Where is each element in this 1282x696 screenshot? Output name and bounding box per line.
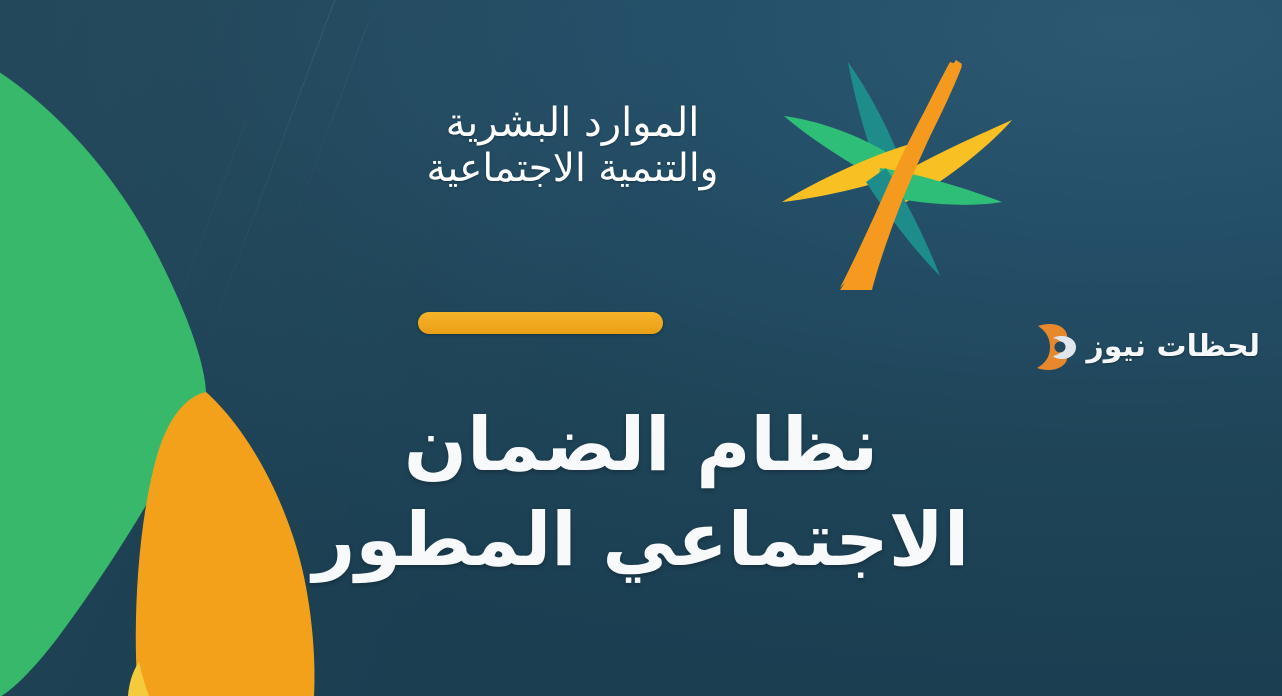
headline-line-2: الاجتماعي المطور bbox=[0, 493, 1282, 588]
promo-banner: الموارد البشرية والتنمية الاجتماعية bbox=[0, 0, 1282, 696]
ministry-logo: الموارد البشرية والتنمية الاجتماعية bbox=[380, 44, 1030, 306]
amber-underline-bar bbox=[418, 312, 663, 334]
headline: نظام الضمان الاجتماعي المطور bbox=[0, 398, 1282, 587]
headline-line-1: نظام الضمان bbox=[0, 398, 1282, 493]
lahazat-news-logo-icon bbox=[1032, 320, 1078, 372]
news-watermark: لحظات نيوز bbox=[1032, 320, 1260, 372]
ministry-logo-line-2: والتنمية الاجتماعية bbox=[380, 146, 765, 191]
watermark-brand-text: لحظات نيوز bbox=[1086, 329, 1260, 364]
palm-star-logo-icon bbox=[780, 44, 1030, 294]
ministry-logo-line-1: الموارد البشرية bbox=[380, 100, 765, 146]
ministry-logo-text: الموارد البشرية والتنمية الاجتماعية bbox=[380, 100, 765, 192]
